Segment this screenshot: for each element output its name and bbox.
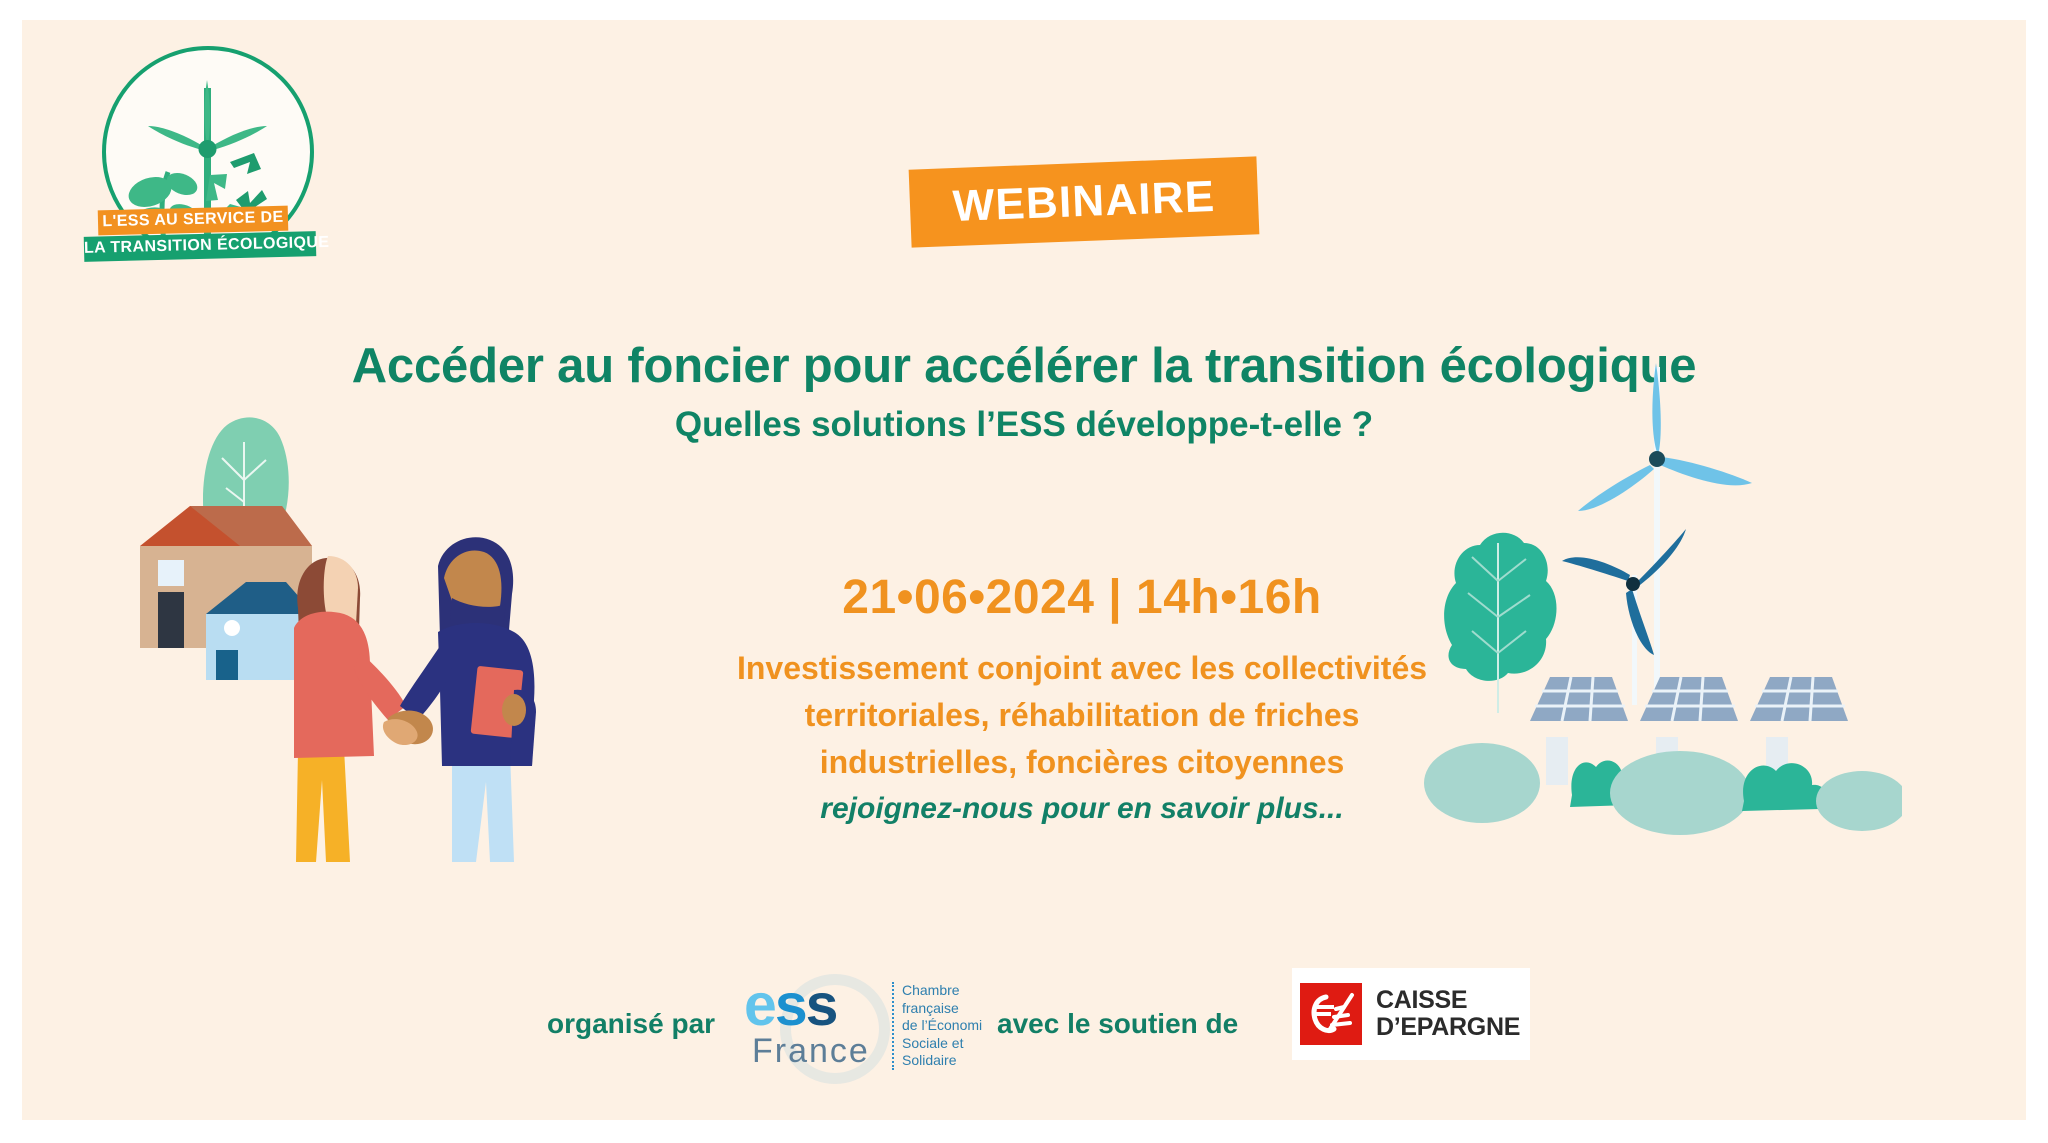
man-pants <box>452 752 514 862</box>
logo-band-bottom: LA TRANSITION ÉCOLOGIQUE <box>84 231 317 262</box>
blue-house-door <box>216 650 238 680</box>
footer: organisé par ess France Chambre français… <box>22 980 2026 1100</box>
tan-house-window <box>158 560 184 586</box>
ess-tagline-line-3: de l’Économi <box>902 1017 992 1035</box>
webinaire-badge: WEBINAIRE <box>909 156 1260 247</box>
webinaire-badge-label: WEBINAIRE <box>952 172 1216 232</box>
ess-tagline-line-5: Solidaire <box>902 1052 992 1070</box>
right-green-tree <box>1444 533 1556 681</box>
caisse-epargne-line-1: CAISSE <box>1376 987 1520 1014</box>
turbine-light-blade-2 <box>1660 457 1752 485</box>
man-hand-folder <box>502 694 526 726</box>
ess-france-wordmark: France <box>752 1032 870 1071</box>
ess-letter-s1: s <box>775 972 806 1038</box>
ess-tagline: Chambre française de l’Économi Sociale e… <box>902 982 992 1070</box>
ess-tagline-line-1: Chambre <box>902 982 992 1000</box>
caisse-epargne-mark-icon <box>1300 983 1362 1045</box>
turbine-dark-blade-1 <box>1638 529 1686 585</box>
woman-pants <box>296 748 350 862</box>
supported-by-label: avec le soutien de <box>997 1008 1238 1040</box>
handshake-housing-illustration <box>122 370 582 870</box>
turbine-dark-blade-2 <box>1562 557 1630 581</box>
tan-house-door <box>158 592 184 648</box>
turbine-light-hub <box>1649 451 1665 467</box>
caisse-epargne-logo: CAISSE D’EPARGNE <box>1292 968 1530 1060</box>
ess-letter-s2: s <box>806 972 837 1038</box>
blue-house-window <box>224 620 240 636</box>
ess-tagline-line-2: française <box>902 1000 992 1018</box>
bushes <box>1424 743 1902 835</box>
turbine-dark-blade-3 <box>1626 589 1654 655</box>
caisse-epargne-line-2: D’EPARGNE <box>1376 1014 1520 1041</box>
ess-tagline-line-4: Sociale et <box>902 1035 992 1053</box>
renewable-energy-illustration <box>1422 325 1902 865</box>
ess-france-logo: ess France Chambre française de l’Économ… <box>744 970 960 1088</box>
ess-transition-logo: L'ESS AU SERVICE DE LA TRANSITION ÉCOLOG… <box>82 38 342 288</box>
ess-divider <box>892 982 894 1070</box>
ess-wordmark: ess <box>744 976 836 1035</box>
turbine-dark-hub <box>1626 577 1640 591</box>
organised-by-label: organisé par <box>547 1008 715 1040</box>
turbine-light-blade-3 <box>1578 465 1654 511</box>
handshake-housing-svg <box>122 370 582 870</box>
logo-band-top: L'ESS AU SERVICE DE <box>98 206 289 236</box>
poster-root: L'ESS AU SERVICE DE LA TRANSITION ÉCOLOG… <box>0 0 2048 1143</box>
renewable-energy-svg <box>1422 325 1902 865</box>
squirrel-euro-icon <box>1300 983 1362 1045</box>
poster-canvas: L'ESS AU SERVICE DE LA TRANSITION ÉCOLOG… <box>22 20 2026 1120</box>
caisse-epargne-wordmark: CAISSE D’EPARGNE <box>1376 987 1520 1041</box>
ess-letter-e: e <box>744 972 775 1038</box>
